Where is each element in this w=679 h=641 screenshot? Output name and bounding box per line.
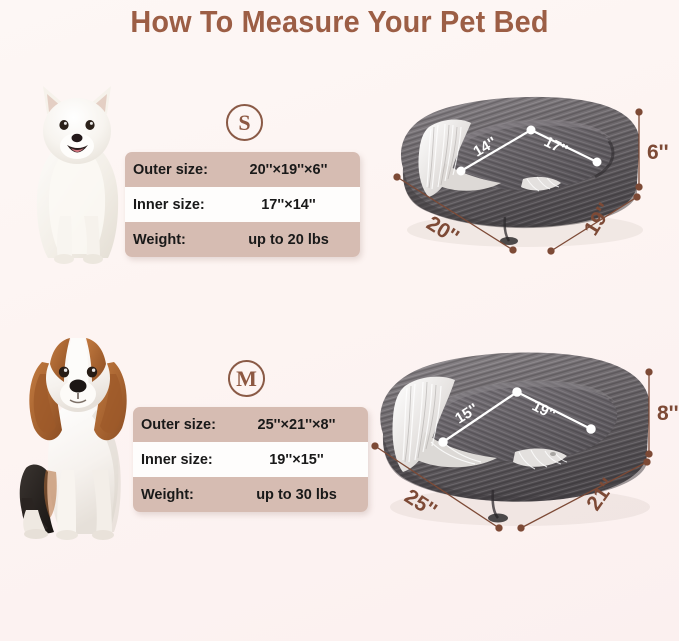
infographic-page: How To Measure Your Pet Bed xyxy=(0,0,679,641)
spec-value: 20''×19''×6'' xyxy=(225,162,352,178)
spec-value: 19''×15'' xyxy=(233,452,360,468)
spec-label: Outer size: xyxy=(133,162,225,178)
spec-value: 17''×14'' xyxy=(225,197,352,213)
spec-value: up to 20 lbs xyxy=(225,232,352,248)
spec-label: Inner size: xyxy=(141,452,233,468)
table-row: Outer size: 25''×21''×8'' xyxy=(133,407,368,442)
size-badge-medium: M xyxy=(228,360,265,397)
table-row: Inner size: 17''×14'' xyxy=(125,187,360,222)
size-section-medium: M Outer size: 25''×21''×8'' Inner size: … xyxy=(0,312,679,562)
dim-outer-height-medium: 8'' xyxy=(657,402,679,425)
spec-value: 25''×21''×8'' xyxy=(233,417,360,433)
spec-label: Inner size: xyxy=(133,197,225,213)
spec-value: up to 30 lbs xyxy=(233,487,360,503)
beagle-dog-photo xyxy=(18,320,138,542)
size-badge-small: S xyxy=(226,104,263,141)
spec-label: Weight: xyxy=(133,232,225,248)
spec-label: Weight: xyxy=(141,487,233,503)
page-title: How To Measure Your Pet Bed xyxy=(24,4,655,40)
spec-label: Outer size: xyxy=(141,417,233,433)
table-row: Weight: up to 30 lbs xyxy=(133,477,368,512)
spec-table-small: Outer size: 20''×19''×6'' Inner size: 17… xyxy=(125,152,360,257)
size-section-small: S Outer size: 20''×19''×6'' Inner size: … xyxy=(0,62,679,277)
pet-bed-illustration-small: 14'' 17'' 20'' 1 xyxy=(385,67,679,267)
table-row: Weight: up to 20 lbs xyxy=(125,222,360,257)
white-spitz-dog-photo xyxy=(22,76,132,266)
spec-table-medium: Outer size: 25''×21''×8'' Inner size: 19… xyxy=(133,407,368,512)
dim-outer-height-small: 6'' xyxy=(647,141,669,164)
pet-bed-illustration-medium: 15'' 19'' 25'' 2 xyxy=(365,322,679,552)
table-row: Inner size: 19''×15'' xyxy=(133,442,368,477)
table-row: Outer size: 20''×19''×6'' xyxy=(125,152,360,187)
